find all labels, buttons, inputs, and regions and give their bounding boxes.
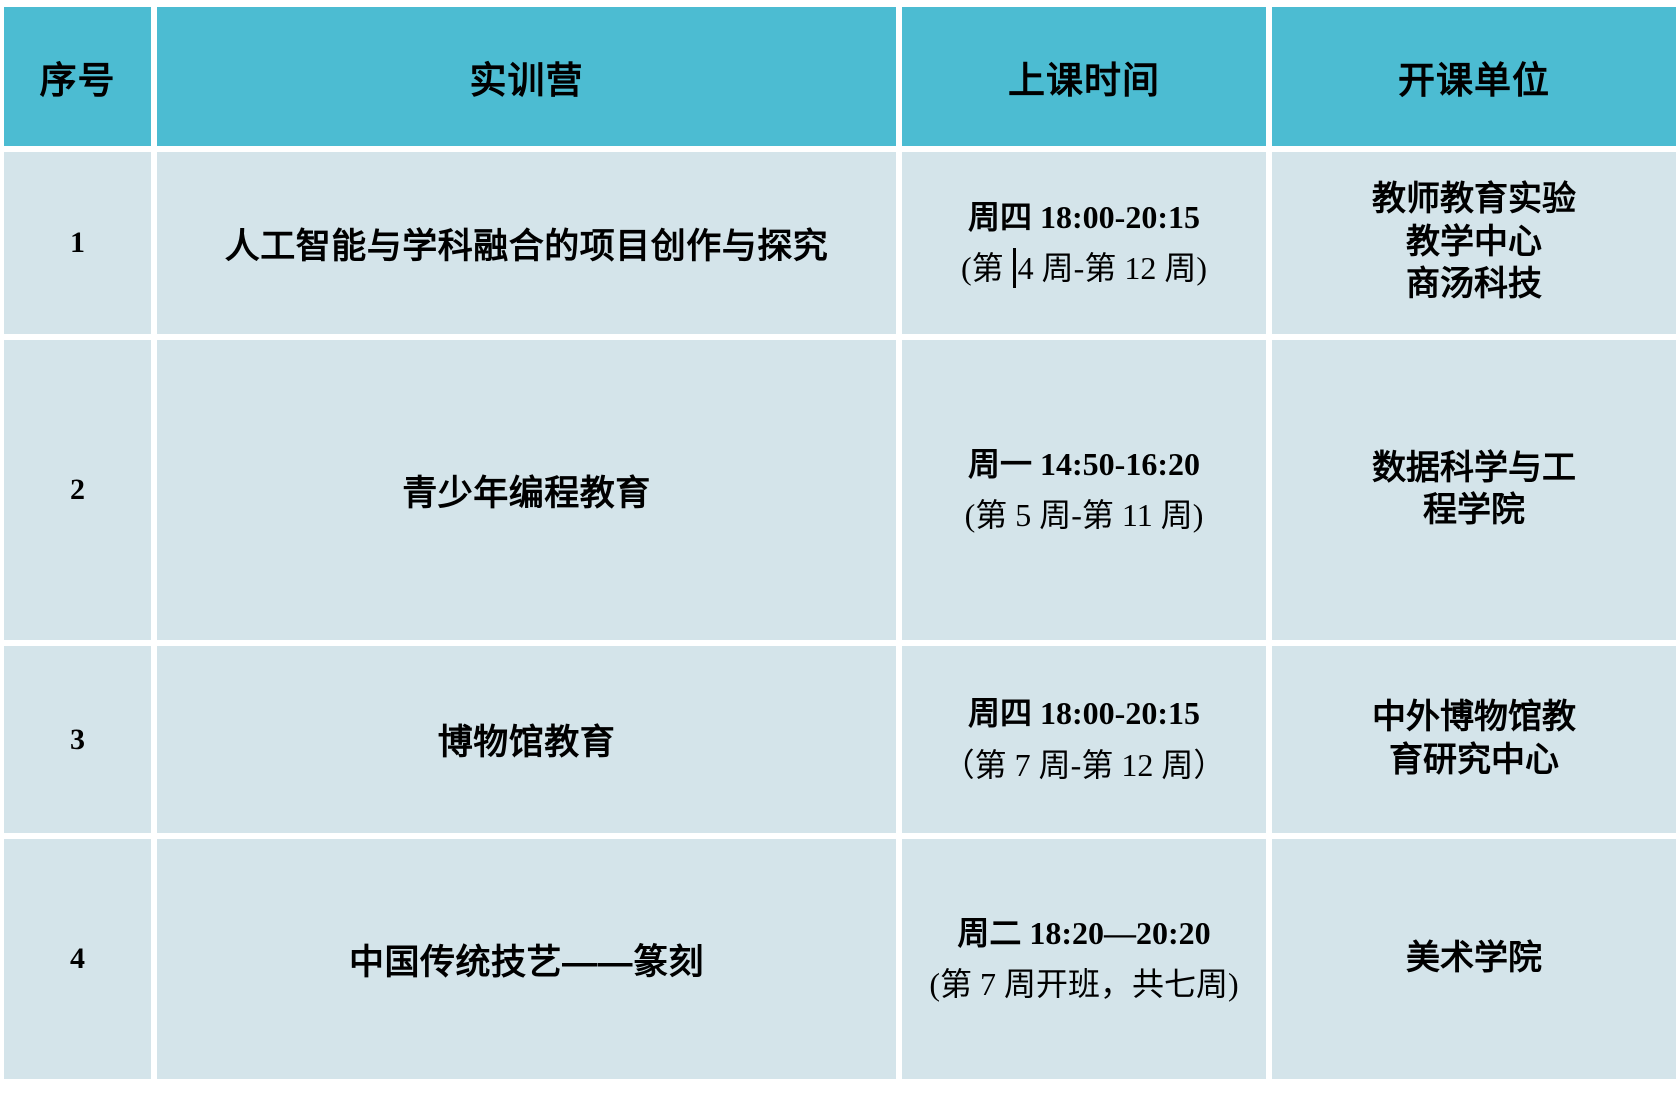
class-time-weeks: (第 5 周-第 11 周) <box>906 490 1262 541</box>
class-time-main: 周四 18:00-20:15 <box>906 688 1262 739</box>
department-cell: 教师教育实验 教学中心 商汤科技 <box>1269 149 1676 337</box>
table-header: 序号 实训营 上课时间 开课单位 <box>4 4 1676 149</box>
class-time-cell: 周四 18:00-20:15 （第 7 周-第 12 周） <box>899 643 1269 836</box>
table-row: 2 青少年编程教育 周一 14:50-16:20 (第 5 周-第 11 周) … <box>4 337 1676 643</box>
class-time-main: 周二 18:20—20:20 <box>906 908 1262 959</box>
table-row: 4 中国传统技艺——篆刻 周二 18:20—20:20 (第 7 周开班，共七周… <box>4 836 1676 1082</box>
class-time-cell: 周四 18:00-20:15 (第 4 周-第 12 周) <box>899 149 1269 337</box>
table-row: 3 博物馆教育 周四 18:00-20:15 （第 7 周-第 12 周） 中外… <box>4 643 1676 836</box>
department-line: 程学院 <box>1286 490 1662 533</box>
class-time-weeks: (第 4 周-第 12 周) <box>906 243 1262 294</box>
weeks-text-before-caret: (第 <box>961 250 1012 286</box>
row-index-cell: 1 <box>4 149 154 337</box>
column-header-dept: 开课单位 <box>1269 4 1676 149</box>
header-row: 序号 实训营 上课时间 开课单位 <box>4 4 1676 149</box>
row-index-cell: 4 <box>4 836 154 1082</box>
department-line: 中外博物馆教 <box>1286 697 1662 740</box>
department-cell: 美术学院 <box>1269 836 1676 1082</box>
department-line: 美术学院 <box>1286 938 1662 981</box>
class-time-main: 周四 18:00-20:15 <box>906 192 1262 243</box>
table-row: 1 人工智能与学科融合的项目创作与探究 周四 18:00-20:15 (第 4 … <box>4 149 1676 337</box>
training-camp-cell: 博物馆教育 <box>154 643 899 836</box>
training-camp-cell: 人工智能与学科融合的项目创作与探究 <box>154 149 899 337</box>
department-line: 育研究中心 <box>1286 740 1662 783</box>
training-camp-schedule-table: 序号 实训营 上课时间 开课单位 1 人工智能与学科融合的项目创作与探究 周四 … <box>4 4 1676 1082</box>
department-line: 商汤科技 <box>1286 264 1662 307</box>
training-camp-cell: 青少年编程教育 <box>154 337 899 643</box>
training-camp-cell: 中国传统技艺——篆刻 <box>154 836 899 1082</box>
department-cell: 中外博物馆教 育研究中心 <box>1269 643 1676 836</box>
department-line: 数据科学与工 <box>1286 448 1662 491</box>
class-time-cell: 周一 14:50-16:20 (第 5 周-第 11 周) <box>899 337 1269 643</box>
row-index-cell: 3 <box>4 643 154 836</box>
row-index-cell: 2 <box>4 337 154 643</box>
text-cursor-icon <box>1013 248 1016 288</box>
weeks-text-after-caret: 4 周-第 12 周) <box>1018 250 1207 286</box>
table-body: 1 人工智能与学科融合的项目创作与探究 周四 18:00-20:15 (第 4 … <box>4 149 1676 1082</box>
department-cell: 数据科学与工 程学院 <box>1269 337 1676 643</box>
class-time-weeks: (第 7 周开班，共七周) <box>906 959 1262 1010</box>
class-time-weeks: （第 7 周-第 12 周） <box>906 740 1262 791</box>
class-time-cell: 周二 18:20—20:20 (第 7 周开班，共七周) <box>899 836 1269 1082</box>
department-line: 教学中心 <box>1286 222 1662 265</box>
class-time-main: 周一 14:50-16:20 <box>906 439 1262 490</box>
schedule-table-container: 序号 实训营 上课时间 开课单位 1 人工智能与学科融合的项目创作与探究 周四 … <box>0 0 1680 1120</box>
column-header-no: 序号 <box>4 4 154 149</box>
department-line: 教师教育实验 <box>1286 179 1662 222</box>
column-header-camp: 实训营 <box>154 4 899 149</box>
column-header-time: 上课时间 <box>899 4 1269 149</box>
